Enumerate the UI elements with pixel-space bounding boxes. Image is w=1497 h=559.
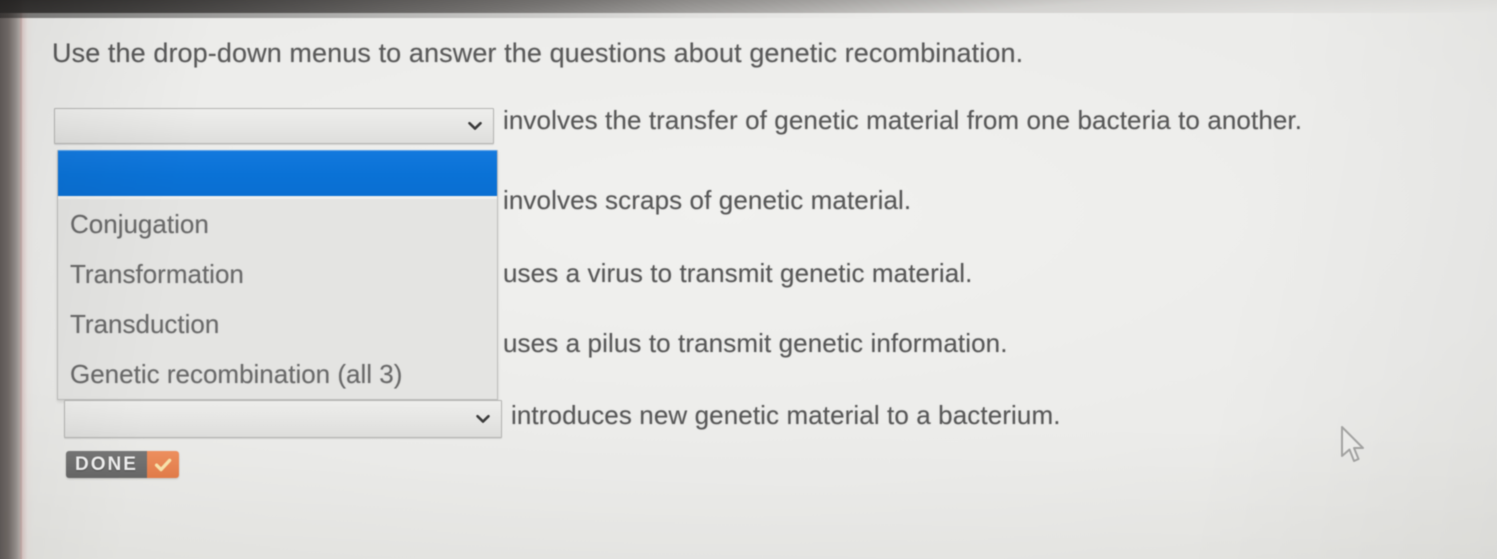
dropdown-option-list[interactable]: Conjugation Transformation Transduction … [57, 150, 498, 400]
dropdown-option-blank[interactable] [58, 150, 497, 196]
dropdown-option-genetic-recombination[interactable]: Genetic recombination (all 3) [58, 349, 497, 399]
screen-left-bezel-glow [20, 0, 34, 559]
check-mark-icon [147, 451, 179, 478]
done-button[interactable]: DONE [66, 451, 179, 478]
question-content: Use the drop-down menus to answer the qu… [0, 0, 1497, 559]
page-title: Use the drop-down menus to answer the qu… [52, 38, 1023, 69]
photographed-screen: Use the drop-down menus to answer the qu… [0, 0, 1497, 559]
screen-left-bezel [0, 0, 22, 559]
statement-1: involves the transfer of genetic materia… [503, 105, 1302, 136]
dropdown-option-transformation[interactable]: Transformation [58, 249, 497, 299]
dropdown-select-1[interactable] [54, 108, 494, 144]
dropdown-select-5[interactable] [64, 400, 502, 438]
dropdown-option-conjugation[interactable]: Conjugation [58, 199, 497, 249]
chevron-down-icon [466, 117, 484, 135]
done-button-label: DONE [66, 451, 147, 478]
dropdown-option-transduction[interactable]: Transduction [58, 299, 497, 349]
statement-5: introduces new genetic material to a bac… [511, 400, 1061, 431]
chevron-down-icon [474, 410, 492, 428]
statement-4: uses a pilus to transmit genetic informa… [503, 328, 1008, 359]
statement-2: involves scraps of genetic material. [503, 185, 911, 216]
mouse-arrow-cursor [1338, 424, 1368, 468]
screen-top-bezel-fade [0, 0, 1497, 18]
statement-3: uses a virus to transmit genetic materia… [503, 258, 973, 289]
